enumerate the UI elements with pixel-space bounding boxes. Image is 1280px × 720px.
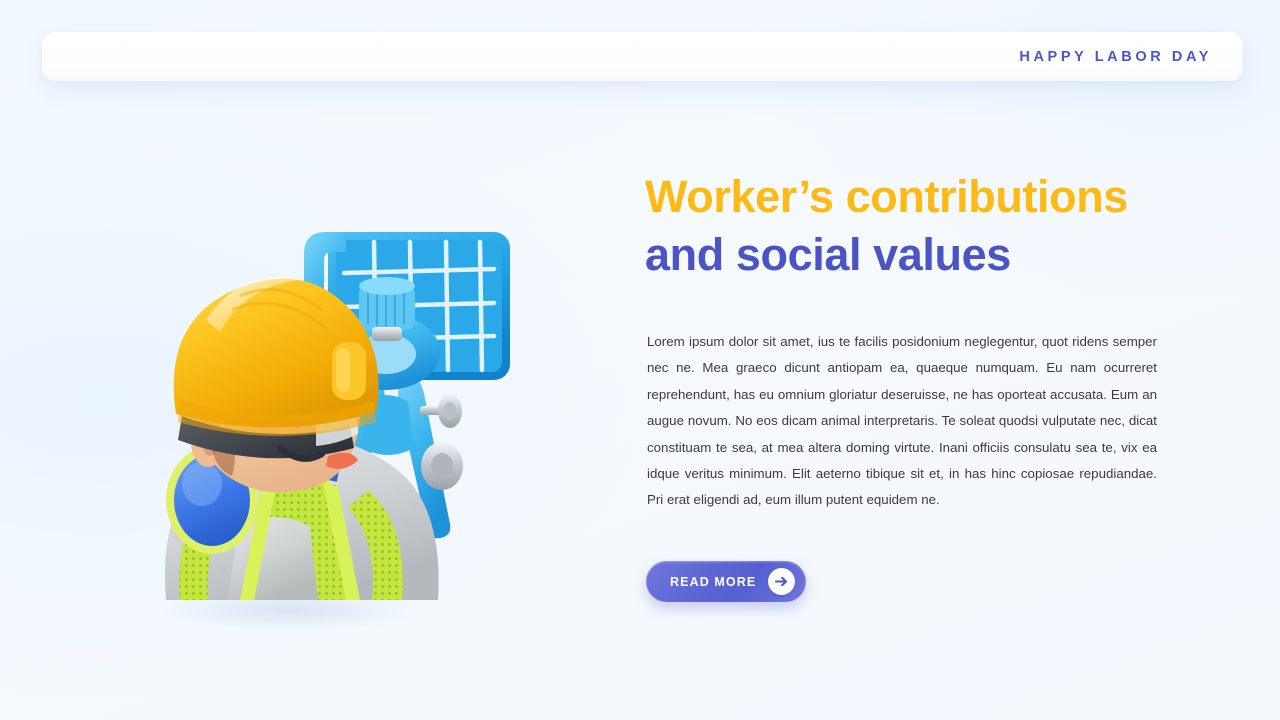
read-more-label: READ MORE bbox=[670, 575, 756, 589]
top-bar: HAPPY LABOR DAY bbox=[42, 32, 1243, 81]
compass-screw-bottom-right bbox=[421, 442, 463, 490]
body-paragraph: Lorem ipsum dolor sit amet, ius te facil… bbox=[647, 329, 1157, 514]
read-more-button[interactable]: READ MORE bbox=[646, 561, 806, 602]
page-title: Worker’s contributions and social values bbox=[645, 168, 1157, 284]
top-bar-title: HAPPY LABOR DAY bbox=[1019, 49, 1212, 65]
headline-line-2: and social values bbox=[645, 226, 1157, 284]
hero-content: Worker’s contributions and social values… bbox=[645, 168, 1157, 284]
worker-illustration-graphic bbox=[120, 170, 550, 630]
hero-illustration bbox=[120, 170, 550, 630]
worker-head bbox=[174, 278, 379, 493]
arrow-right-circle-icon bbox=[768, 568, 795, 595]
headline-line-1: Worker’s contributions bbox=[645, 168, 1157, 226]
slide-canvas: HAPPY LABOR DAY bbox=[0, 0, 1280, 720]
